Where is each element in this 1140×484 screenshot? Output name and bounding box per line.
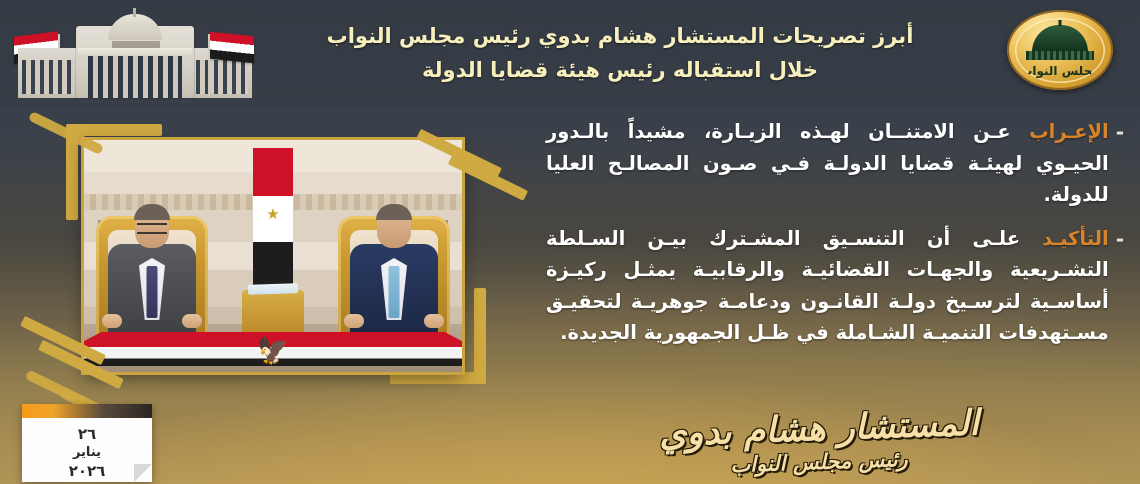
- egypt-flag-ribbon-banner: 🦅: [84, 332, 462, 366]
- building-windows-right: [196, 60, 248, 94]
- bullet-text-2: التأكيـد علـى أن التنسـيق المشـترك بيـن …: [546, 223, 1109, 349]
- official-right-tie: [389, 266, 400, 318]
- headline-line-1: أبرز تصريحات المستشار هشام بدوي رئيس مجل…: [327, 22, 914, 52]
- statements-list: - الإعـراب عـن الامتنــان لهـذه الزيـارة…: [546, 116, 1124, 361]
- official-right-hand-a: [344, 314, 364, 328]
- date-card: ٢٦ يناير ٢٠٢٦: [22, 404, 152, 482]
- bullet-body-2: علـى أن التنسـيق المشـترك بيـن السـلطة ا…: [546, 227, 1109, 345]
- official-left-head: [135, 208, 169, 248]
- parliament-building-image: [8, 8, 258, 100]
- official-right-hair: [376, 204, 412, 220]
- eagle-of-saladin-icon: ★: [264, 205, 282, 223]
- gold-bracket-bottom-right-vertical: [474, 288, 486, 384]
- page-title: أبرز تصريحات المستشار هشام بدوي رئيس مجل…: [280, 8, 960, 100]
- bullet-keyword-1: الإعـراب: [1029, 120, 1109, 143]
- poster-canvas: أبرز تصريحات المستشار هشام بدوي رئيس مجل…: [0, 0, 1140, 484]
- bullet-text-1: الإعـراب عـن الامتنــان لهـذه الزيـارة، …: [546, 116, 1109, 211]
- gold-bracket-bottom-right-horizontal: [390, 372, 486, 384]
- logo-label: مجلس النواب: [1015, 64, 1105, 78]
- date-day: ٢٦: [22, 425, 152, 443]
- dome-icon: [1032, 25, 1088, 52]
- logo-inner-disc: مجلس النواب: [1015, 18, 1105, 83]
- meeting-photo: ★: [84, 140, 462, 372]
- official-left-hand-b: [182, 314, 202, 328]
- parliament-logo: مجلس النواب: [1007, 10, 1113, 90]
- official-left-hair: [134, 204, 170, 220]
- building-plaque: [112, 41, 160, 48]
- building-spire: [133, 8, 136, 17]
- signature-block: المستشار هشام بدوي رئيس مجلس النواب: [654, 411, 984, 474]
- building-windows-left: [22, 60, 74, 94]
- building-colonnade: [88, 56, 182, 98]
- header-bar: أبرز تصريحات المستشار هشام بدوي رئيس مجل…: [0, 0, 1140, 108]
- eagle-of-saladin-emblem-icon: 🦅: [257, 338, 289, 364]
- list-item: - التأكيـد علـى أن التنسـيق المشـترك بيـ…: [546, 223, 1124, 349]
- headline-line-2: خلال استقباله رئيس هيئة قضايا الدولة: [422, 56, 818, 86]
- building-dome: [108, 14, 162, 40]
- official-left: [100, 202, 204, 342]
- side-table: [242, 290, 304, 336]
- official-left-hand-a: [102, 314, 122, 328]
- official-right-head: [377, 208, 411, 248]
- date-card-header-bar: [22, 404, 152, 418]
- glasses-icon: [137, 223, 167, 234]
- egypt-flag-right-icon: [210, 32, 254, 64]
- building-cornice: [78, 48, 192, 55]
- flag-stripe-red: [253, 148, 293, 196]
- official-right-hand-b: [424, 314, 444, 328]
- bullet-dash-1: -: [1116, 116, 1124, 211]
- logo-colonnade: [1026, 51, 1094, 60]
- bullet-keyword-2: التأكيـد: [1042, 227, 1109, 250]
- date-year: ٢٠٢٦: [22, 462, 152, 480]
- date-month: يناير: [22, 445, 152, 460]
- egypt-flag-standing: ★: [253, 148, 293, 290]
- official-left-tie: [147, 266, 158, 318]
- list-item: - الإعـراب عـن الامتنــان لهـذه الزيـارة…: [546, 116, 1124, 211]
- bullet-dash-2: -: [1116, 223, 1124, 349]
- photo-frame: ★: [66, 118, 486, 390]
- official-right: [342, 202, 446, 342]
- documents-on-table: [248, 283, 298, 295]
- flagpole-right: [208, 34, 210, 96]
- bullet-body-1: عـن الامتنــان لهـذه الزيـارة، مشيداً با…: [546, 120, 1109, 206]
- page-curl-corner: [134, 464, 152, 482]
